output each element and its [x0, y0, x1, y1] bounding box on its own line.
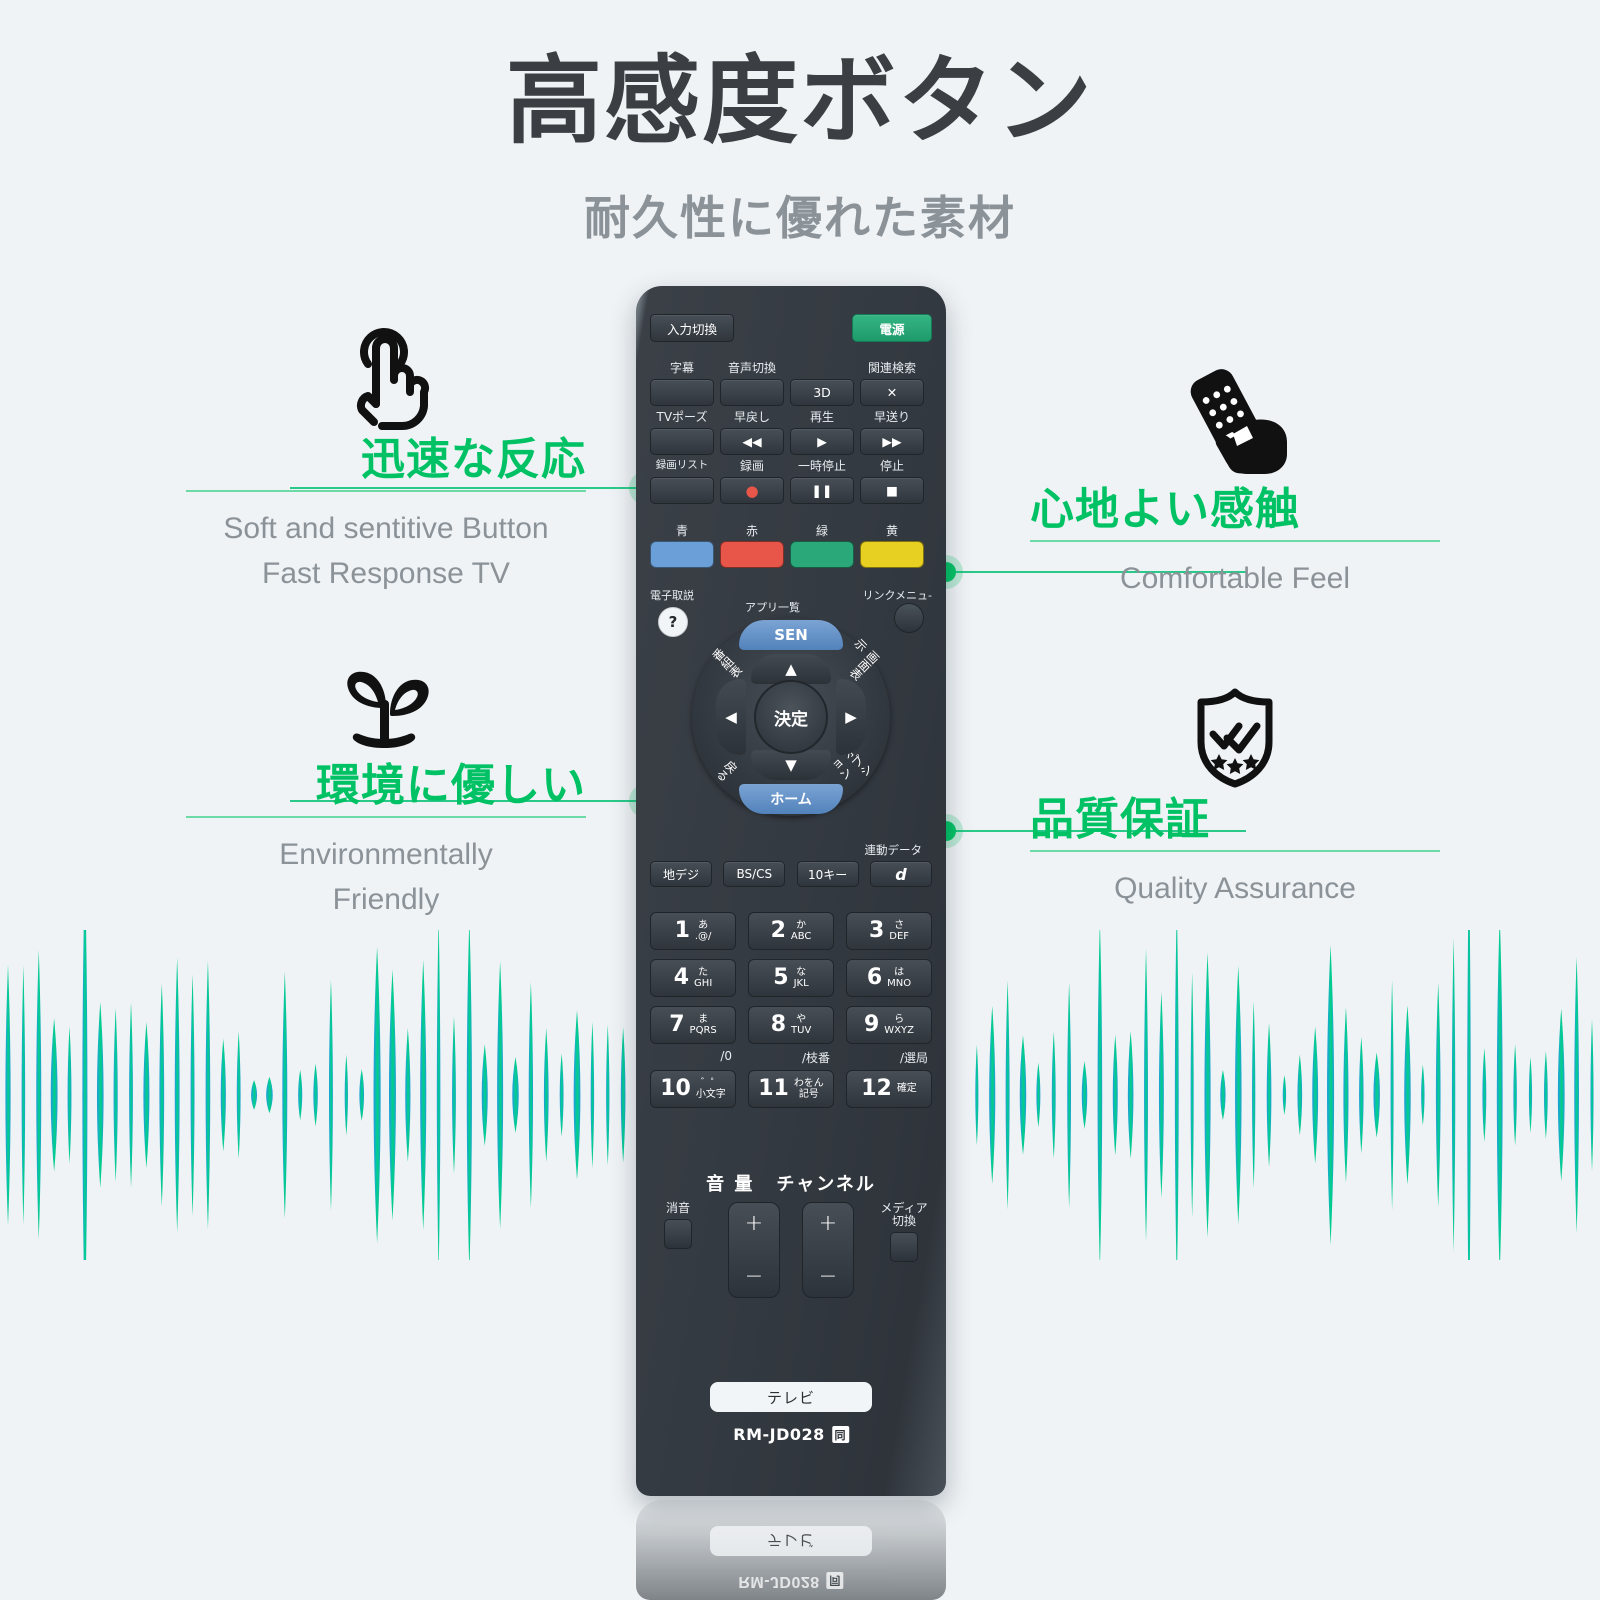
feature-eco-friendly: 環境に優しい Environmentally Friendly: [186, 660, 586, 922]
play-label: 再生: [790, 411, 854, 426]
link-menu-label: リンクメニュ-: [862, 587, 932, 603]
pause-icon[interactable]: ❚❚: [790, 477, 854, 504]
recording-list-label: 録画リスト: [650, 460, 714, 475]
yellow-cell: 黄: [860, 525, 924, 568]
reflection-mark-icon: 同: [827, 1573, 844, 1590]
volume-channel-headers: 音 量 チャンネル: [650, 1170, 932, 1196]
numpad-sub-branch: /枝番: [748, 1049, 834, 1066]
rewind-icon[interactable]: ◀◀: [720, 428, 784, 455]
red-label: 赤: [720, 525, 784, 538]
yellow-button[interactable]: [860, 541, 924, 568]
volume-down[interactable]: −: [745, 1264, 763, 1289]
feature-sub-2: Friendly: [186, 877, 586, 922]
num-button-2[interactable]: 2 かABC: [748, 912, 834, 950]
rewind-cell: 早戻し ◀◀: [720, 411, 784, 455]
dpad-right-button[interactable]: ▶: [836, 679, 866, 755]
num-digit: 1: [675, 920, 690, 942]
subtitle-label: 字幕: [650, 362, 714, 377]
numeric-keypad: 1 あ.@/ 2 かABC 3 さDEF 4 たGHI 5: [650, 912, 932, 1117]
related-search-cell: 関連検索 ✕: [860, 362, 924, 406]
dpad: 番組表 画面表示 戻る オプション SEN ホーム ▲ ▼ ◀ ▶ 決定: [692, 618, 890, 816]
channel-up[interactable]: +: [819, 1211, 837, 1236]
blue-button[interactable]: [650, 541, 714, 568]
stop-cell: 停止 ■: [860, 460, 924, 504]
ten-key-button[interactable]: 10キー: [797, 861, 859, 887]
tv-pause-cell: TVポーズ: [650, 411, 714, 455]
function-rows: 字幕 音声切換 3D 関連検索 ✕ TVポーズ: [650, 362, 932, 509]
rewind-label: 早戻し: [720, 411, 784, 426]
bs-cs-button[interactable]: BS/CS: [723, 861, 785, 887]
tv-pause-button[interactable]: [650, 428, 714, 455]
green-button[interactable]: [790, 541, 854, 568]
channel-label: チャンネル: [776, 1170, 875, 1196]
feature-title: 迅速な反応: [186, 435, 586, 486]
sen-button[interactable]: SEN: [739, 620, 843, 650]
numpad-subrow: /0 /枝番 /選局: [650, 1049, 932, 1066]
terrestrial-digital-button[interactable]: 地デジ: [650, 861, 712, 887]
feature-title: 品質保証: [1030, 795, 1440, 846]
num-sub: ゛゜小文字: [696, 1078, 726, 1101]
subtitle-button[interactable]: [650, 379, 714, 406]
num-button-1[interactable]: 1 あ.@/: [650, 912, 736, 950]
num-sub: あ.@/: [695, 920, 712, 943]
remote-reflection: RM-JD028 同 テレビ: [636, 1500, 946, 1600]
feature-rule: [186, 490, 586, 492]
feature-sub-2: Fast Response TV: [186, 551, 586, 596]
related-search-icon[interactable]: ✕: [860, 379, 924, 406]
feature-title: 心地よい感触: [1030, 485, 1440, 536]
remote-control: 入力切換 電源 字幕 音声切換 3D 関連検索 ✕: [636, 286, 946, 1496]
function-row-2: TVポーズ 早戻し ◀◀ 再生 ▶ 早送り ▶▶: [650, 411, 932, 455]
shield-check-stars-icon: [1030, 686, 1440, 795]
num-digit: 10: [660, 1078, 691, 1100]
feature-rule: [1030, 850, 1440, 852]
feature-title: 環境に優しい: [186, 761, 586, 812]
remote-top-row: 入力切換 電源: [650, 314, 932, 342]
num-digit: 5: [773, 967, 788, 989]
num-digit: 8: [771, 1014, 786, 1036]
num-sub: かABC: [791, 920, 812, 943]
num-sub: さDEF: [889, 920, 909, 943]
num-sub: わをん記号: [794, 1078, 824, 1101]
volume-up[interactable]: +: [745, 1211, 763, 1236]
num-sub: らWXYZ: [884, 1014, 914, 1037]
red-cell: 赤: [720, 525, 784, 568]
mute-group: 消音: [650, 1202, 706, 1249]
audio-switch-label: 音声切換: [720, 362, 784, 377]
link-menu-button[interactable]: [894, 603, 924, 633]
record-label: 録画: [720, 460, 784, 475]
related-search-label: 関連検索: [860, 362, 924, 377]
num-button-9[interactable]: 9 らWXYZ: [846, 1006, 932, 1044]
num-digit: 7: [669, 1014, 684, 1036]
dpad-enter-button[interactable]: 決定: [754, 680, 828, 754]
volume-label: 音 量: [706, 1170, 754, 1196]
page-subtitle: 耐久性に優れた素材: [0, 182, 1600, 248]
feature-rule: [1030, 540, 1440, 542]
stop-label: 停止: [860, 460, 924, 475]
function-row-1: 字幕 音声切換 3D 関連検索 ✕: [650, 362, 932, 406]
record-icon[interactable]: ●: [720, 477, 784, 504]
num-digit: 9: [864, 1014, 879, 1036]
feature-quality-assurance: 品質保証 Quality Assurance: [1030, 686, 1440, 911]
color-button-row: 青 赤 緑 黄: [650, 525, 932, 568]
mute-label: 消音: [666, 1202, 690, 1215]
num-digit: 11: [758, 1078, 789, 1100]
numpad-row-4: 10 ゛゜小文字 11 わをん記号 12 確定: [650, 1070, 932, 1108]
reflection-tv-pill: テレビ: [710, 1526, 872, 1556]
play-icon[interactable]: ▶: [790, 428, 854, 455]
volume-rocker[interactable]: + −: [728, 1202, 780, 1298]
audio-switch-button[interactable]: [720, 379, 784, 406]
feature-sub-1: Soft and sentitive Button: [186, 506, 586, 551]
num-digit: 2: [771, 920, 786, 942]
num-sub: まPQRS: [690, 1014, 717, 1037]
feature-fast-response: 迅速な反応 Soft and sentitive Button Fast Res…: [186, 318, 586, 596]
input-select-button[interactable]: 入力切換: [650, 314, 734, 342]
tap-hand-icon: [186, 318, 586, 435]
num-digit: 3: [869, 920, 884, 942]
numpad-row-1: 1 あ.@/ 2 かABC 3 さDEF: [650, 912, 932, 950]
hand-holding-remote-icon: [1030, 368, 1440, 485]
num-digit: 4: [674, 967, 689, 989]
page-title: 高感度ボタン: [0, 52, 1600, 153]
sprout-icon: [186, 660, 586, 761]
red-button[interactable]: [720, 541, 784, 568]
mute-button[interactable]: [664, 1219, 692, 1249]
num-sub: なJKL: [794, 967, 809, 990]
linked-data-label: 連動データ: [865, 842, 923, 858]
play-cell: 再生 ▶: [790, 411, 854, 455]
blue-label: 青: [650, 525, 714, 538]
green-cell: 緑: [790, 525, 854, 568]
green-label: 緑: [790, 525, 854, 538]
num-button-8[interactable]: 8 やTUV: [748, 1006, 834, 1044]
num-button-11[interactable]: 11 わをん記号: [748, 1070, 834, 1108]
stop-icon[interactable]: ■: [860, 477, 924, 504]
help-button[interactable]: ?: [658, 607, 688, 637]
num-sub: たGHI: [694, 967, 712, 990]
channel-rocker[interactable]: + −: [802, 1202, 854, 1298]
media-switch-group: メディア 切換: [876, 1202, 932, 1262]
num-sub: 確定: [897, 1083, 917, 1095]
three-d-button[interactable]: 3D: [790, 379, 854, 406]
feature-comfortable-feel: 心地よい感触 Comfortable Feel: [1030, 368, 1440, 601]
pause-label: 一時停止: [790, 460, 854, 475]
numpad-sub-0: /0: [650, 1049, 736, 1066]
apps-label: アプリ一覧: [745, 599, 800, 615]
model-number: RM-JD028: [733, 1425, 825, 1444]
num-digit: 12: [861, 1078, 892, 1100]
reflection-model: RM-JD028: [738, 1572, 819, 1590]
three-d-cell: 3D: [790, 362, 854, 406]
home-button[interactable]: ホーム: [739, 784, 843, 814]
record-cell: 録画 ●: [720, 460, 784, 504]
help-label: 電子取説: [650, 587, 694, 603]
reflection-model-group: RM-JD028 同: [738, 1572, 843, 1590]
dpad-left-button[interactable]: ◀: [716, 679, 746, 755]
model-number-group: RM-JD028 同: [733, 1425, 849, 1444]
fast-forward-cell: 早送り ▶▶: [860, 411, 924, 455]
fast-forward-icon[interactable]: ▶▶: [860, 428, 924, 455]
num-button-7[interactable]: 7 まPQRS: [650, 1006, 736, 1044]
numpad-sub-channel: /選局: [846, 1049, 932, 1066]
three-d-label: [790, 362, 854, 377]
num-button-6[interactable]: 6 はMNO: [846, 959, 932, 997]
tv-pause-label: TVポーズ: [650, 411, 714, 426]
media-switch-label: メディア 切換: [880, 1202, 927, 1228]
blue-cell: 青: [650, 525, 714, 568]
volume-channel-area: 消音 + − + − メディア 切換: [650, 1202, 932, 1298]
tuner-row: 地デジ BS/CS 10キー d: [650, 861, 932, 887]
num-button-12[interactable]: 12 確定: [846, 1070, 932, 1108]
channel-down[interactable]: −: [819, 1264, 837, 1289]
num-button-10[interactable]: 10 ゛゜小文字: [650, 1070, 736, 1108]
fast-forward-label: 早送り: [860, 411, 924, 426]
feature-rule: [186, 816, 586, 818]
num-sub: はMNO: [887, 967, 911, 990]
function-row-3: 録画リスト 録画 ● 一時停止 ❚❚ 停止 ■: [650, 460, 932, 504]
yellow-label: 黄: [860, 525, 924, 538]
feature-sub-1: Environmentally: [186, 832, 586, 877]
registered-mark-icon: 同: [832, 1426, 849, 1443]
dpad-down-button[interactable]: ▼: [751, 750, 831, 780]
pause-cell: 一時停止 ❚❚: [790, 460, 854, 504]
num-sub: やTUV: [791, 1014, 811, 1037]
recording-list-button[interactable]: [650, 477, 714, 504]
infographic-canvas: 高感度ボタン 耐久性に優れた素材: [0, 0, 1600, 1600]
num-digit: 6: [867, 967, 882, 989]
num-button-4[interactable]: 4 たGHI: [650, 959, 736, 997]
audio-switch-cell: 音声切換: [720, 362, 784, 406]
num-button-3[interactable]: 3 さDEF: [846, 912, 932, 950]
feature-sub-1: Comfortable Feel: [1030, 556, 1440, 601]
tv-mode-button[interactable]: テレビ: [710, 1382, 872, 1412]
numpad-row-2: 4 たGHI 5 なJKL 6 はMNO: [650, 959, 932, 997]
subtitle-cell: 字幕: [650, 362, 714, 406]
data-button[interactable]: d: [870, 861, 932, 887]
power-button[interactable]: 電源: [852, 314, 932, 342]
recording-list-cell: 録画リスト: [650, 460, 714, 504]
numpad-row-3: 7 まPQRS 8 やTUV 9 らWXYZ: [650, 1006, 932, 1044]
num-button-5[interactable]: 5 なJKL: [748, 959, 834, 997]
feature-sub-1: Quality Assurance: [1030, 866, 1440, 911]
media-switch-button[interactable]: [890, 1232, 918, 1262]
